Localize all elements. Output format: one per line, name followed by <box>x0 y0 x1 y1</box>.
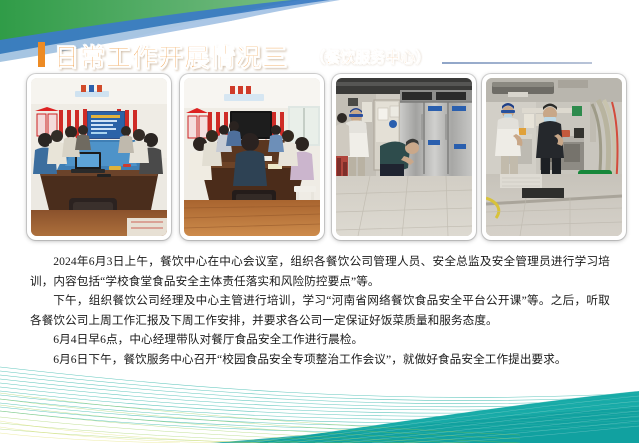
photo-thumbnail-3[interactable] <box>332 74 476 240</box>
photo-thumbnail-2[interactable] <box>180 74 324 240</box>
photo-4-image <box>486 78 622 236</box>
slide-canvas: 日常工作开展情况三 （餐饮服务中心） <box>0 0 639 443</box>
body-paragraph-1: 2024年6月3日上午，餐饮中心在中心会议室，组织各餐饮公司管理人员、安全总监及… <box>30 252 610 291</box>
photo-thumbnail-1[interactable] <box>27 74 171 240</box>
page-title: 日常工作开展情况三 <box>54 38 288 74</box>
title-accent-bar <box>38 42 45 67</box>
photo-row <box>0 74 639 242</box>
page-subtitle: （餐饮服务中心） <box>310 46 430 67</box>
photo-1-image <box>31 78 167 236</box>
body-paragraph-2: 下午，组织餐饮公司经理及中心主管进行培训，学习“河南省网络餐饮食品安全平台公开课… <box>30 291 610 330</box>
slide-header: 日常工作开展情况三 （餐饮服务中心） <box>0 20 639 60</box>
photo-3-image <box>336 78 472 236</box>
body-text-block: 2024年6月3日上午，餐饮中心在中心会议室，组织各餐饮公司管理人员、安全总监及… <box>30 252 610 369</box>
photo-2-image <box>184 78 320 236</box>
body-paragraph-3: 6月4日早6点，中心经理带队对餐厅食品安全工作进行晨检。 <box>30 330 610 350</box>
photo-thumbnail-4[interactable] <box>482 74 626 240</box>
body-paragraph-4: 6月6日下午，餐饮服务中心召开“校园食品安全专项整治工作会议”，就做好食品安全工… <box>30 350 610 370</box>
header-rule <box>442 62 592 64</box>
bottom-wave-decoration <box>0 363 639 443</box>
